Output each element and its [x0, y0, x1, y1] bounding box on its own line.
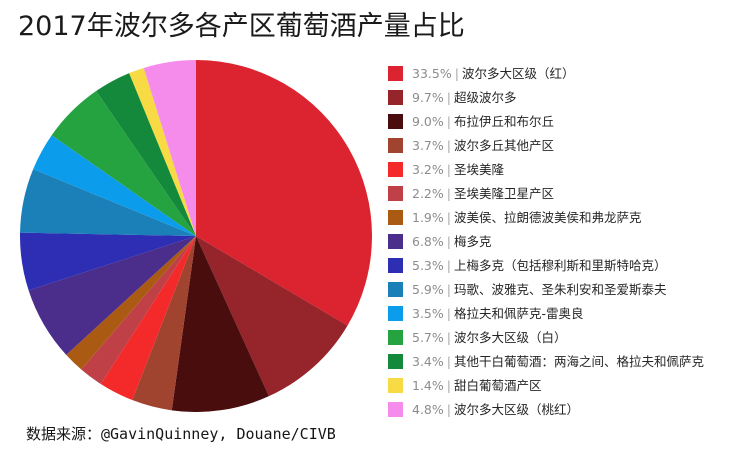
legend-label: 上梅多克（包括穆利斯和里斯特哈克）	[454, 258, 667, 273]
legend-percent: 2.2%	[412, 186, 444, 201]
legend-percent: 5.3%	[412, 258, 444, 273]
legend-item[interactable]: 5.3%|上梅多克（包括穆利斯和里斯特哈克）	[388, 253, 746, 277]
legend-separator: |	[447, 258, 451, 273]
legend-label: 波美侯、拉朗德波美侯和弗龙萨克	[454, 210, 642, 225]
legend-label: 超级波尔多	[454, 90, 517, 105]
legend-label: 格拉夫和佩萨克-雷奥良	[454, 306, 584, 321]
legend-label: 布拉伊丘和布尔丘	[454, 114, 554, 129]
legend-separator: |	[447, 378, 451, 393]
legend-text: 9.7%|超级波尔多	[412, 90, 517, 105]
legend-color-swatch	[388, 162, 403, 177]
legend-item[interactable]: 5.7%|波尔多大区级（白）	[388, 325, 746, 349]
legend-text: 1.9%|波美侯、拉朗德波美侯和弗龙萨克	[412, 210, 642, 225]
legend-label: 玛歌、波雅克、圣朱利安和圣爱斯泰夫	[454, 282, 667, 297]
legend-percent: 3.5%	[412, 306, 444, 321]
legend-percent: 33.5%	[412, 66, 452, 81]
legend-label: 圣埃美隆卫星产区	[454, 186, 554, 201]
legend-color-swatch	[388, 402, 403, 417]
legend-text: 9.0%|布拉伊丘和布尔丘	[412, 114, 554, 129]
page-title: 2017年波尔多各产区葡萄酒产量占比	[18, 10, 465, 44]
legend-percent: 3.2%	[412, 162, 444, 177]
legend-text: 3.5%|格拉夫和佩萨克-雷奥良	[412, 306, 584, 321]
legend-separator: |	[447, 306, 451, 321]
legend-label: 波尔多大区级（白）	[454, 330, 567, 345]
legend-item[interactable]: 9.7%|超级波尔多	[388, 85, 746, 109]
legend-label: 其他干白葡萄酒：两海之间、格拉夫和佩萨克	[454, 354, 704, 369]
legend-item[interactable]: 5.9%|玛歌、波雅克、圣朱利安和圣爱斯泰夫	[388, 277, 746, 301]
legend-color-swatch	[388, 186, 403, 201]
legend-separator: |	[447, 234, 451, 249]
legend-text: 3.7%|波尔多丘其他产区	[412, 138, 554, 153]
legend-item[interactable]: 9.0%|布拉伊丘和布尔丘	[388, 109, 746, 133]
legend-item[interactable]: 3.2%|圣埃美隆	[388, 157, 746, 181]
legend-item[interactable]: 4.8%|波尔多大区级（桃红）	[388, 397, 746, 421]
legend-separator: |	[455, 66, 459, 81]
legend-item[interactable]: 1.9%|波美侯、拉朗德波美侯和弗龙萨克	[388, 205, 746, 229]
legend-item[interactable]: 6.8%|梅多克	[388, 229, 746, 253]
legend-text: 6.8%|梅多克	[412, 234, 492, 249]
legend-percent: 3.7%	[412, 138, 444, 153]
legend-separator: |	[447, 90, 451, 105]
legend-percent: 5.7%	[412, 330, 444, 345]
legend-color-swatch	[388, 378, 403, 393]
legend-percent: 1.4%	[412, 378, 444, 393]
legend-percent: 3.4%	[412, 354, 444, 369]
legend-separator: |	[447, 138, 451, 153]
legend-label: 波尔多大区级（桃红）	[454, 402, 579, 417]
legend-item[interactable]: 2.2%|圣埃美隆卫星产区	[388, 181, 746, 205]
legend-color-swatch	[388, 90, 403, 105]
legend-text: 5.7%|波尔多大区级（白）	[412, 330, 567, 345]
legend-separator: |	[447, 114, 451, 129]
legend-text: 33.5%|波尔多大区级（红）	[412, 66, 574, 81]
legend-separator: |	[447, 330, 451, 345]
legend-text: 5.3%|上梅多克（包括穆利斯和里斯特哈克）	[412, 258, 667, 273]
legend-color-swatch	[388, 114, 403, 129]
legend-text: 2.2%|圣埃美隆卫星产区	[412, 186, 554, 201]
legend-color-swatch	[388, 354, 403, 369]
legend-separator: |	[447, 354, 451, 369]
legend-percent: 1.9%	[412, 210, 444, 225]
legend-text: 4.8%|波尔多大区级（桃红）	[412, 402, 579, 417]
legend-text: 3.2%|圣埃美隆	[412, 162, 504, 177]
legend-color-swatch	[388, 258, 403, 273]
legend-color-swatch	[388, 210, 403, 225]
legend-label: 梅多克	[454, 234, 492, 249]
legend-color-swatch	[388, 330, 403, 345]
legend-percent: 6.8%	[412, 234, 444, 249]
legend-label: 圣埃美隆	[454, 162, 504, 177]
legend-label: 甜白葡萄酒产区	[454, 378, 542, 393]
legend-separator: |	[447, 402, 451, 417]
legend-color-swatch	[388, 138, 403, 153]
legend-label: 波尔多大区级（红）	[462, 66, 575, 81]
legend-percent: 9.7%	[412, 90, 444, 105]
legend-percent: 4.8%	[412, 402, 444, 417]
legend-color-swatch	[388, 282, 403, 297]
legend: 33.5%|波尔多大区级（红）9.7%|超级波尔多9.0%|布拉伊丘和布尔丘3.…	[388, 61, 746, 421]
legend-color-swatch	[388, 66, 403, 81]
legend-percent: 9.0%	[412, 114, 444, 129]
legend-separator: |	[447, 282, 451, 297]
legend-label: 波尔多丘其他产区	[454, 138, 554, 153]
pie-chart-svg	[20, 60, 372, 412]
pie-chart	[20, 60, 372, 412]
legend-separator: |	[447, 162, 451, 177]
legend-item[interactable]: 1.4%|甜白葡萄酒产区	[388, 373, 746, 397]
legend-percent: 5.9%	[412, 282, 444, 297]
legend-item[interactable]: 3.5%|格拉夫和佩萨克-雷奥良	[388, 301, 746, 325]
legend-text: 1.4%|甜白葡萄酒产区	[412, 378, 542, 393]
legend-item[interactable]: 3.4%|其他干白葡萄酒：两海之间、格拉夫和佩萨克	[388, 349, 746, 373]
legend-color-swatch	[388, 306, 403, 321]
legend-text: 5.9%|玛歌、波雅克、圣朱利安和圣爱斯泰夫	[412, 282, 667, 297]
legend-separator: |	[447, 186, 451, 201]
legend-item[interactable]: 33.5%|波尔多大区级（红）	[388, 61, 746, 85]
source-attribution: 数据来源：@GavinQuinney, Douane/CIVB	[26, 424, 336, 444]
legend-text: 3.4%|其他干白葡萄酒：两海之间、格拉夫和佩萨克	[412, 354, 704, 369]
legend-item[interactable]: 3.7%|波尔多丘其他产区	[388, 133, 746, 157]
legend-separator: |	[447, 210, 451, 225]
legend-color-swatch	[388, 234, 403, 249]
